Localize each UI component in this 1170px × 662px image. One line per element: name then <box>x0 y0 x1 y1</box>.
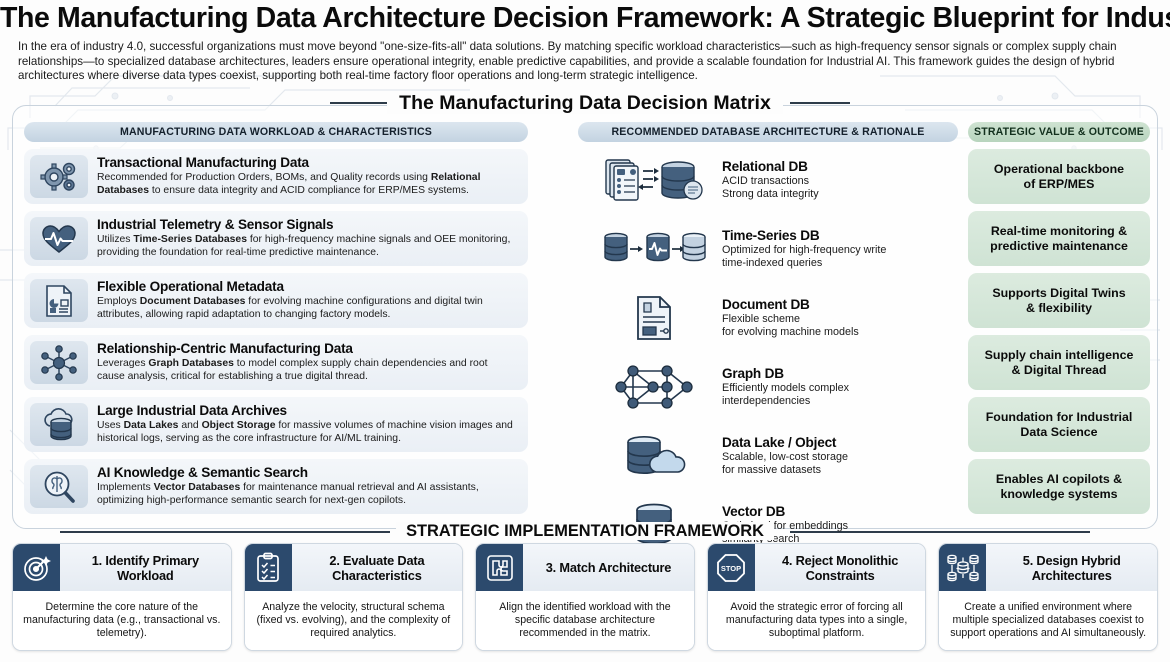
workload-desc: Employs Document Databases for evolving … <box>97 296 518 321</box>
step-title: 2. Evaluate Data Characteristics <box>292 544 463 591</box>
node-graph-icon <box>30 341 88 384</box>
workload-text: Large Industrial Data Archives Uses Data… <box>97 403 518 445</box>
architecture-text: Relational DB ACID transactions Strong d… <box>722 159 958 201</box>
desc-bold-2: Object Storage <box>202 420 276 431</box>
workload-row[interactable]: Flexible Operational Metadata Employs Do… <box>24 273 528 328</box>
step-header: 5. Design Hybrid Architectures <box>939 544 1157 591</box>
workload-desc: Recommended for Production Orders, BOMs,… <box>97 172 518 197</box>
desc-bold: Data Lakes <box>124 420 179 431</box>
value-line-2: & Digital Thread <box>985 363 1134 378</box>
step-body: Determine the core nature of the manufac… <box>13 591 231 650</box>
value-line-1: Supports Digital Twins <box>992 286 1125 301</box>
value-line-2: of ERP/MES <box>994 177 1124 192</box>
architecture-row[interactable]: Data Lake / Object Scalable, low-cost st… <box>578 424 958 487</box>
architecture-row[interactable]: Time-Series DB Optimized for high-freque… <box>578 217 958 280</box>
architecture-text: Graph DB Efficiently models complex inte… <box>722 366 958 408</box>
workload-text: Industrial Telemetry & Sensor Signals Ut… <box>97 217 518 259</box>
architecture-line-1: Flexible scheme <box>722 313 958 326</box>
workload-column: MANUFACTURING DATA WORKLOAD & CHARACTERI… <box>24 122 528 514</box>
desc-part-1: Employs <box>97 296 140 307</box>
step-body: Align the identified workload with the s… <box>476 591 694 650</box>
workload-title: Industrial Telemetry & Sensor Signals <box>97 217 518 233</box>
workload-text: Flexible Operational Metadata Employs Do… <box>97 279 518 321</box>
architecture-text: Time-Series DB Optimized for high-freque… <box>722 228 958 270</box>
architecture-title: Document DB <box>722 297 958 313</box>
desc-bold: Graph Databases <box>148 358 233 369</box>
desc-bold: Time-Series Databases <box>133 234 247 245</box>
matrix-title-text: The Manufacturing Data Decision Matrix <box>387 92 783 114</box>
architecture-line-2: Strong data integrity <box>722 188 958 201</box>
desc-part-1: Leverages <box>97 358 148 369</box>
page-title: The Manufacturing Data Architecture Deci… <box>0 2 1170 35</box>
architecture-line-1: Optimized for high-frequency write <box>722 244 958 257</box>
architecture-title: Time-Series DB <box>722 228 958 244</box>
architecture-line-1: Scalable, low-cost storage <box>722 451 958 464</box>
value-box[interactable]: Supports Digital Twins& flexibility <box>968 273 1150 328</box>
document-chart-icon <box>30 279 88 322</box>
step-title: 5. Design Hybrid Architectures <box>986 544 1157 591</box>
brain-search-icon <box>30 465 88 508</box>
hybrid-nodes-icon <box>939 544 986 591</box>
matrix-title: The Manufacturing Data Decision Matrix <box>0 92 1170 115</box>
page-subtitle: In the era of industry 4.0, successful o… <box>18 40 1154 84</box>
workload-desc: Uses Data Lakes and Object Storage for m… <box>97 420 518 445</box>
workload-text: Relationship-Centric Manufacturing Data … <box>97 341 518 383</box>
step-title: 4. Reject Monolithic Constraints <box>755 544 926 591</box>
workload-title: Large Industrial Data Archives <box>97 403 518 419</box>
workload-text: AI Knowledge & Semantic Search Implement… <box>97 465 518 507</box>
value-line-1: Supply chain intelligence <box>985 348 1134 363</box>
clipboard-icon <box>245 544 292 591</box>
step-header: 3. Match Architecture <box>476 544 694 591</box>
cloud-database-icon <box>30 403 88 446</box>
step-card[interactable]: STOP 4. Reject Monolithic Constraints Av… <box>707 543 927 651</box>
workload-title: Relationship-Centric Manufacturing Data <box>97 341 518 357</box>
value-line-2: predictive maintenance <box>990 239 1128 254</box>
stop-sign-icon: STOP <box>708 544 755 591</box>
architecture-title: Graph DB <box>722 366 958 382</box>
value-line-1: Enables AI copilots & <box>996 472 1122 487</box>
workload-column-header: MANUFACTURING DATA WORKLOAD & CHARACTERI… <box>24 122 528 142</box>
document-file-icon <box>600 292 708 344</box>
graph-network-icon <box>600 361 708 413</box>
value-column: STRATEGIC VALUE & OUTCOME Operational ba… <box>968 122 1150 514</box>
desc-mid: and <box>178 420 201 431</box>
step-card[interactable]: 1. Identify Primary Workload Determine t… <box>12 543 232 651</box>
value-box[interactable]: Supply chain intelligence& Digital Threa… <box>968 335 1150 390</box>
architecture-line-2: interdependencies <box>722 395 958 408</box>
workload-desc: Leverages Graph Databases to model compl… <box>97 358 518 383</box>
desc-part-1: Utilizes <box>97 234 133 245</box>
value-line-1: Operational backbone <box>994 162 1124 177</box>
timeseries-databases-icon <box>600 223 708 275</box>
step-card[interactable]: 2. Evaluate Data Characteristics Analyze… <box>244 543 464 651</box>
value-box[interactable]: Foundation for IndustrialData Science <box>968 397 1150 452</box>
step-header: STOP 4. Reject Monolithic Constraints <box>708 544 926 591</box>
step-title: 3. Match Architecture <box>523 544 694 591</box>
desc-part-1: Uses <box>97 420 124 431</box>
value-line-1: Foundation for Industrial <box>986 410 1133 425</box>
target-icon <box>13 544 60 591</box>
step-body: Analyze the velocity, structural schema … <box>245 591 463 650</box>
architecture-row[interactable]: Document DB Flexible scheme for evolving… <box>578 286 958 349</box>
step-header: 2. Evaluate Data Characteristics <box>245 544 463 591</box>
desc-part-1: Implements <box>97 482 154 493</box>
value-line-2: Data Science <box>986 425 1133 440</box>
workload-row[interactable]: Relationship-Centric Manufacturing Data … <box>24 335 528 390</box>
architecture-title: Relational DB <box>722 159 958 175</box>
framework-title-text: STRATEGIC IMPLEMENTATION FRAMEWORK <box>396 522 774 540</box>
step-body: Avoid the strategic error of forcing all… <box>708 591 926 650</box>
architecture-row[interactable]: Relational DB ACID transactions Strong d… <box>578 148 958 211</box>
workload-row[interactable]: Large Industrial Data Archives Uses Data… <box>24 397 528 452</box>
datalake-cloud-icon <box>600 430 708 482</box>
architecture-line-2: for evolving machine models <box>722 326 958 339</box>
workload-row[interactable]: AI Knowledge & Semantic Search Implement… <box>24 459 528 514</box>
value-line-2: knowledge systems <box>996 487 1122 502</box>
value-box[interactable]: Operational backboneof ERP/MES <box>968 149 1150 204</box>
desc-bold: Document Databases <box>140 296 246 307</box>
infographic-page: The Manufacturing Data Architecture Deci… <box>0 0 1170 662</box>
workload-title: Transactional Manufacturing Data <box>97 155 518 171</box>
heartbeat-icon <box>30 217 88 260</box>
architecture-line-2: for massive datasets <box>722 464 958 477</box>
documents-to-database-icon <box>600 154 708 206</box>
architecture-title: Data Lake / Object <box>722 435 958 451</box>
step-body: Create a unified environment where multi… <box>939 591 1157 650</box>
architecture-title: Vector DB <box>722 504 958 520</box>
puzzle-icon <box>476 544 523 591</box>
workload-row[interactable]: Industrial Telemetry & Sensor Signals Ut… <box>24 211 528 266</box>
desc-part-2: to ensure data integrity and ACID compli… <box>149 185 469 196</box>
value-line-2: & flexibility <box>992 301 1125 316</box>
step-title: 1. Identify Primary Workload <box>60 544 231 591</box>
architecture-column-header: RECOMMENDED DATABASE ARCHITECTURE & RATI… <box>578 122 958 142</box>
framework-title: STRATEGIC IMPLEMENTATION FRAMEWORK <box>0 522 1170 541</box>
architecture-text: Document DB Flexible scheme for evolving… <box>722 297 958 339</box>
architecture-line-2: time-indexed queries <box>722 257 958 270</box>
desc-bold: Vector Databases <box>154 482 241 493</box>
architecture-line-1: Efficiently models complex <box>722 382 958 395</box>
step-card[interactable]: 3. Match Architecture Align the identifi… <box>475 543 695 651</box>
workload-title: Flexible Operational Metadata <box>97 279 518 295</box>
workload-desc: Utilizes Time-Series Databases for high-… <box>97 234 518 259</box>
workload-title: AI Knowledge & Semantic Search <box>97 465 518 481</box>
value-box[interactable]: Real-time monitoring &predictive mainten… <box>968 211 1150 266</box>
value-column-header: STRATEGIC VALUE & OUTCOME <box>968 122 1150 142</box>
svg-text:STOP: STOP <box>721 564 741 573</box>
gears-icon <box>30 155 88 198</box>
workload-text: Transactional Manufacturing Data Recomme… <box>97 155 518 197</box>
framework-steps: 1. Identify Primary Workload Determine t… <box>12 543 1158 651</box>
architecture-row[interactable]: Graph DB Efficiently models complex inte… <box>578 355 958 418</box>
workload-row[interactable]: Transactional Manufacturing Data Recomme… <box>24 149 528 204</box>
step-header: 1. Identify Primary Workload <box>13 544 231 591</box>
value-box[interactable]: Enables AI copilots &knowledge systems <box>968 459 1150 514</box>
architecture-text: Data Lake / Object Scalable, low-cost st… <box>722 435 958 477</box>
value-line-1: Real-time monitoring & <box>990 224 1128 239</box>
desc-part-1: Recommended for Production Orders, BOMs,… <box>97 172 431 183</box>
architecture-line-1: ACID transactions <box>722 175 958 188</box>
workload-desc: Implements Vector Databases for maintena… <box>97 482 518 507</box>
step-card[interactable]: 5. Design Hybrid Architectures Create a … <box>938 543 1158 651</box>
architecture-column: RECOMMENDED DATABASE ARCHITECTURE & RATI… <box>578 122 958 556</box>
